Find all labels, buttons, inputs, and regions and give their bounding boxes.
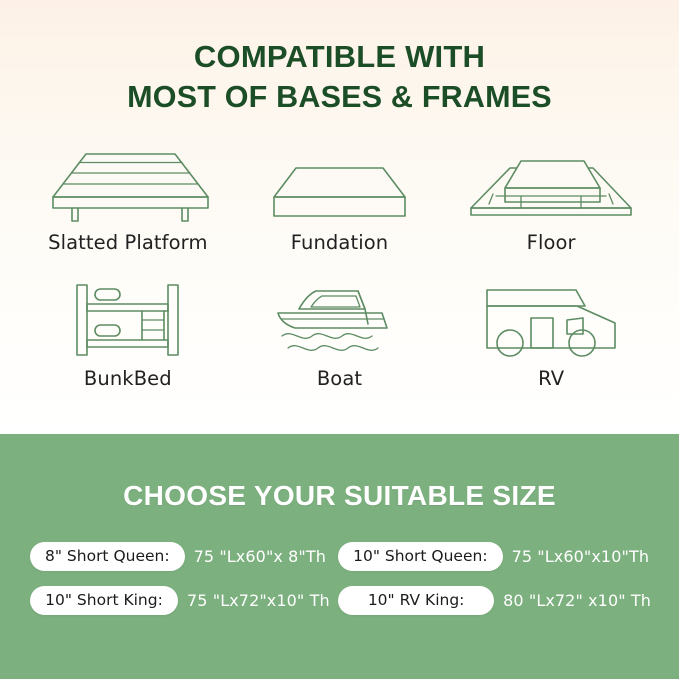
slatted-platform-icon [42,144,214,222]
size-section-title: CHOOSE YOUR SUITABLE SIZE [0,480,679,512]
base-type-grid: Slatted Platform Fundation [0,144,679,390]
base-item-label: Fundation [291,231,388,254]
infographic-page: COMPATIBLE WITH MOST OF BASES & FRAMES [0,0,679,679]
base-item-floor: Floor [445,144,657,254]
bunkbed-icon [64,280,192,358]
base-item-rv: RV [445,280,657,390]
base-item-label: Boat [317,367,362,390]
size-section: CHOOSE YOUR SUITABLE SIZE 8" Short Queen… [0,434,679,679]
size-grid: 8" Short Queen: 75 "Lx60"x 8"Th 10" Shor… [0,542,679,615]
boat-icon [264,280,414,358]
headline-line-2: MOST OF BASES & FRAMES [0,77,679,118]
rv-icon [473,280,629,358]
headline-line-1: COMPATIBLE WITH [0,36,679,77]
size-row[interactable]: 10" Short King: 75 "Lx72"x10" Th [30,586,338,615]
size-name-pill: 10" Short Queen: [338,542,502,571]
size-dimensions: 75 "Lx60"x10"Th [512,547,650,566]
size-name-pill: 10" Short King: [30,586,178,615]
size-dimensions: 80 "Lx72" x10" Th [503,591,651,610]
base-item-label: Slatted Platform [48,231,207,254]
base-item-boat: Boat [234,280,446,390]
foundation-icon [269,144,409,222]
base-item-label: Floor [527,231,576,254]
compatibility-section: COMPATIBLE WITH MOST OF BASES & FRAMES [0,0,679,434]
size-dimensions: 75 "Lx60"x 8"Th [194,547,326,566]
size-row[interactable]: 10" Short Queen: 75 "Lx60"x10"Th [338,542,651,571]
floor-icon [465,144,637,222]
base-item-foundation: Fundation [234,144,446,254]
base-item-label: RV [538,367,564,390]
base-item-slatted-platform: Slatted Platform [22,144,234,254]
size-name-pill: 8" Short Queen: [30,542,185,571]
base-item-bunkbed: BunkBed [22,280,234,390]
base-item-label: BunkBed [84,367,172,390]
size-name-pill: 10" RV King: [338,586,494,615]
size-row[interactable]: 8" Short Queen: 75 "Lx60"x 8"Th [30,542,338,571]
size-dimensions: 75 "Lx72"x10" Th [187,591,330,610]
size-row[interactable]: 10" RV King: 80 "Lx72" x10" Th [338,586,651,615]
compatibility-headline: COMPATIBLE WITH MOST OF BASES & FRAMES [0,36,679,118]
